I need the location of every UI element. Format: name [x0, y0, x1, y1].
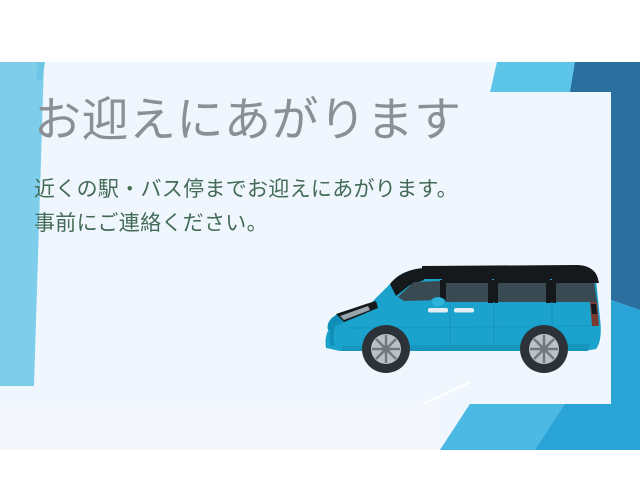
rear-glass-frame [552, 279, 599, 283]
minivan-illustration [318, 252, 610, 382]
side-mirror-face [432, 298, 444, 307]
page-title: お迎えにあがります [34, 96, 554, 143]
front-door-handle [428, 308, 448, 313]
sliding-glass-frame [494, 279, 550, 283]
car-roof [422, 265, 598, 279]
sliding-door-handle [454, 308, 474, 313]
c-pillar [488, 280, 498, 303]
front-wheel [362, 325, 410, 373]
pickup-service-banner: お迎えにあがります 近くの駅・バス停までお迎えにあがります。 事前にご連絡くださ… [0, 0, 640, 480]
rear-spokes [530, 335, 558, 363]
front-spokes [372, 335, 400, 363]
description-text: 近くの駅・バス停までお迎えにあがります。 事前にご連絡ください。 [34, 143, 554, 241]
description-line-1: 近くの駅・バス停までお迎えにあがります。 [34, 173, 554, 207]
card-lower-band [0, 404, 440, 450]
sliding-door-glass [498, 281, 546, 302]
rear-quarter-glass [556, 281, 597, 302]
rear-wheel [520, 325, 568, 373]
right-dark-strip [611, 62, 640, 310]
tail-light-dark [591, 304, 597, 314]
front-door-glass [446, 281, 488, 302]
front-glass-frame [442, 279, 492, 283]
d-pillar [546, 280, 556, 303]
description-line-2: 事前にご連絡ください。 [34, 207, 554, 241]
text-block: お迎えにあがります 近くの駅・バス停までお迎えにあがります。 事前にご連絡くださ… [34, 96, 554, 241]
